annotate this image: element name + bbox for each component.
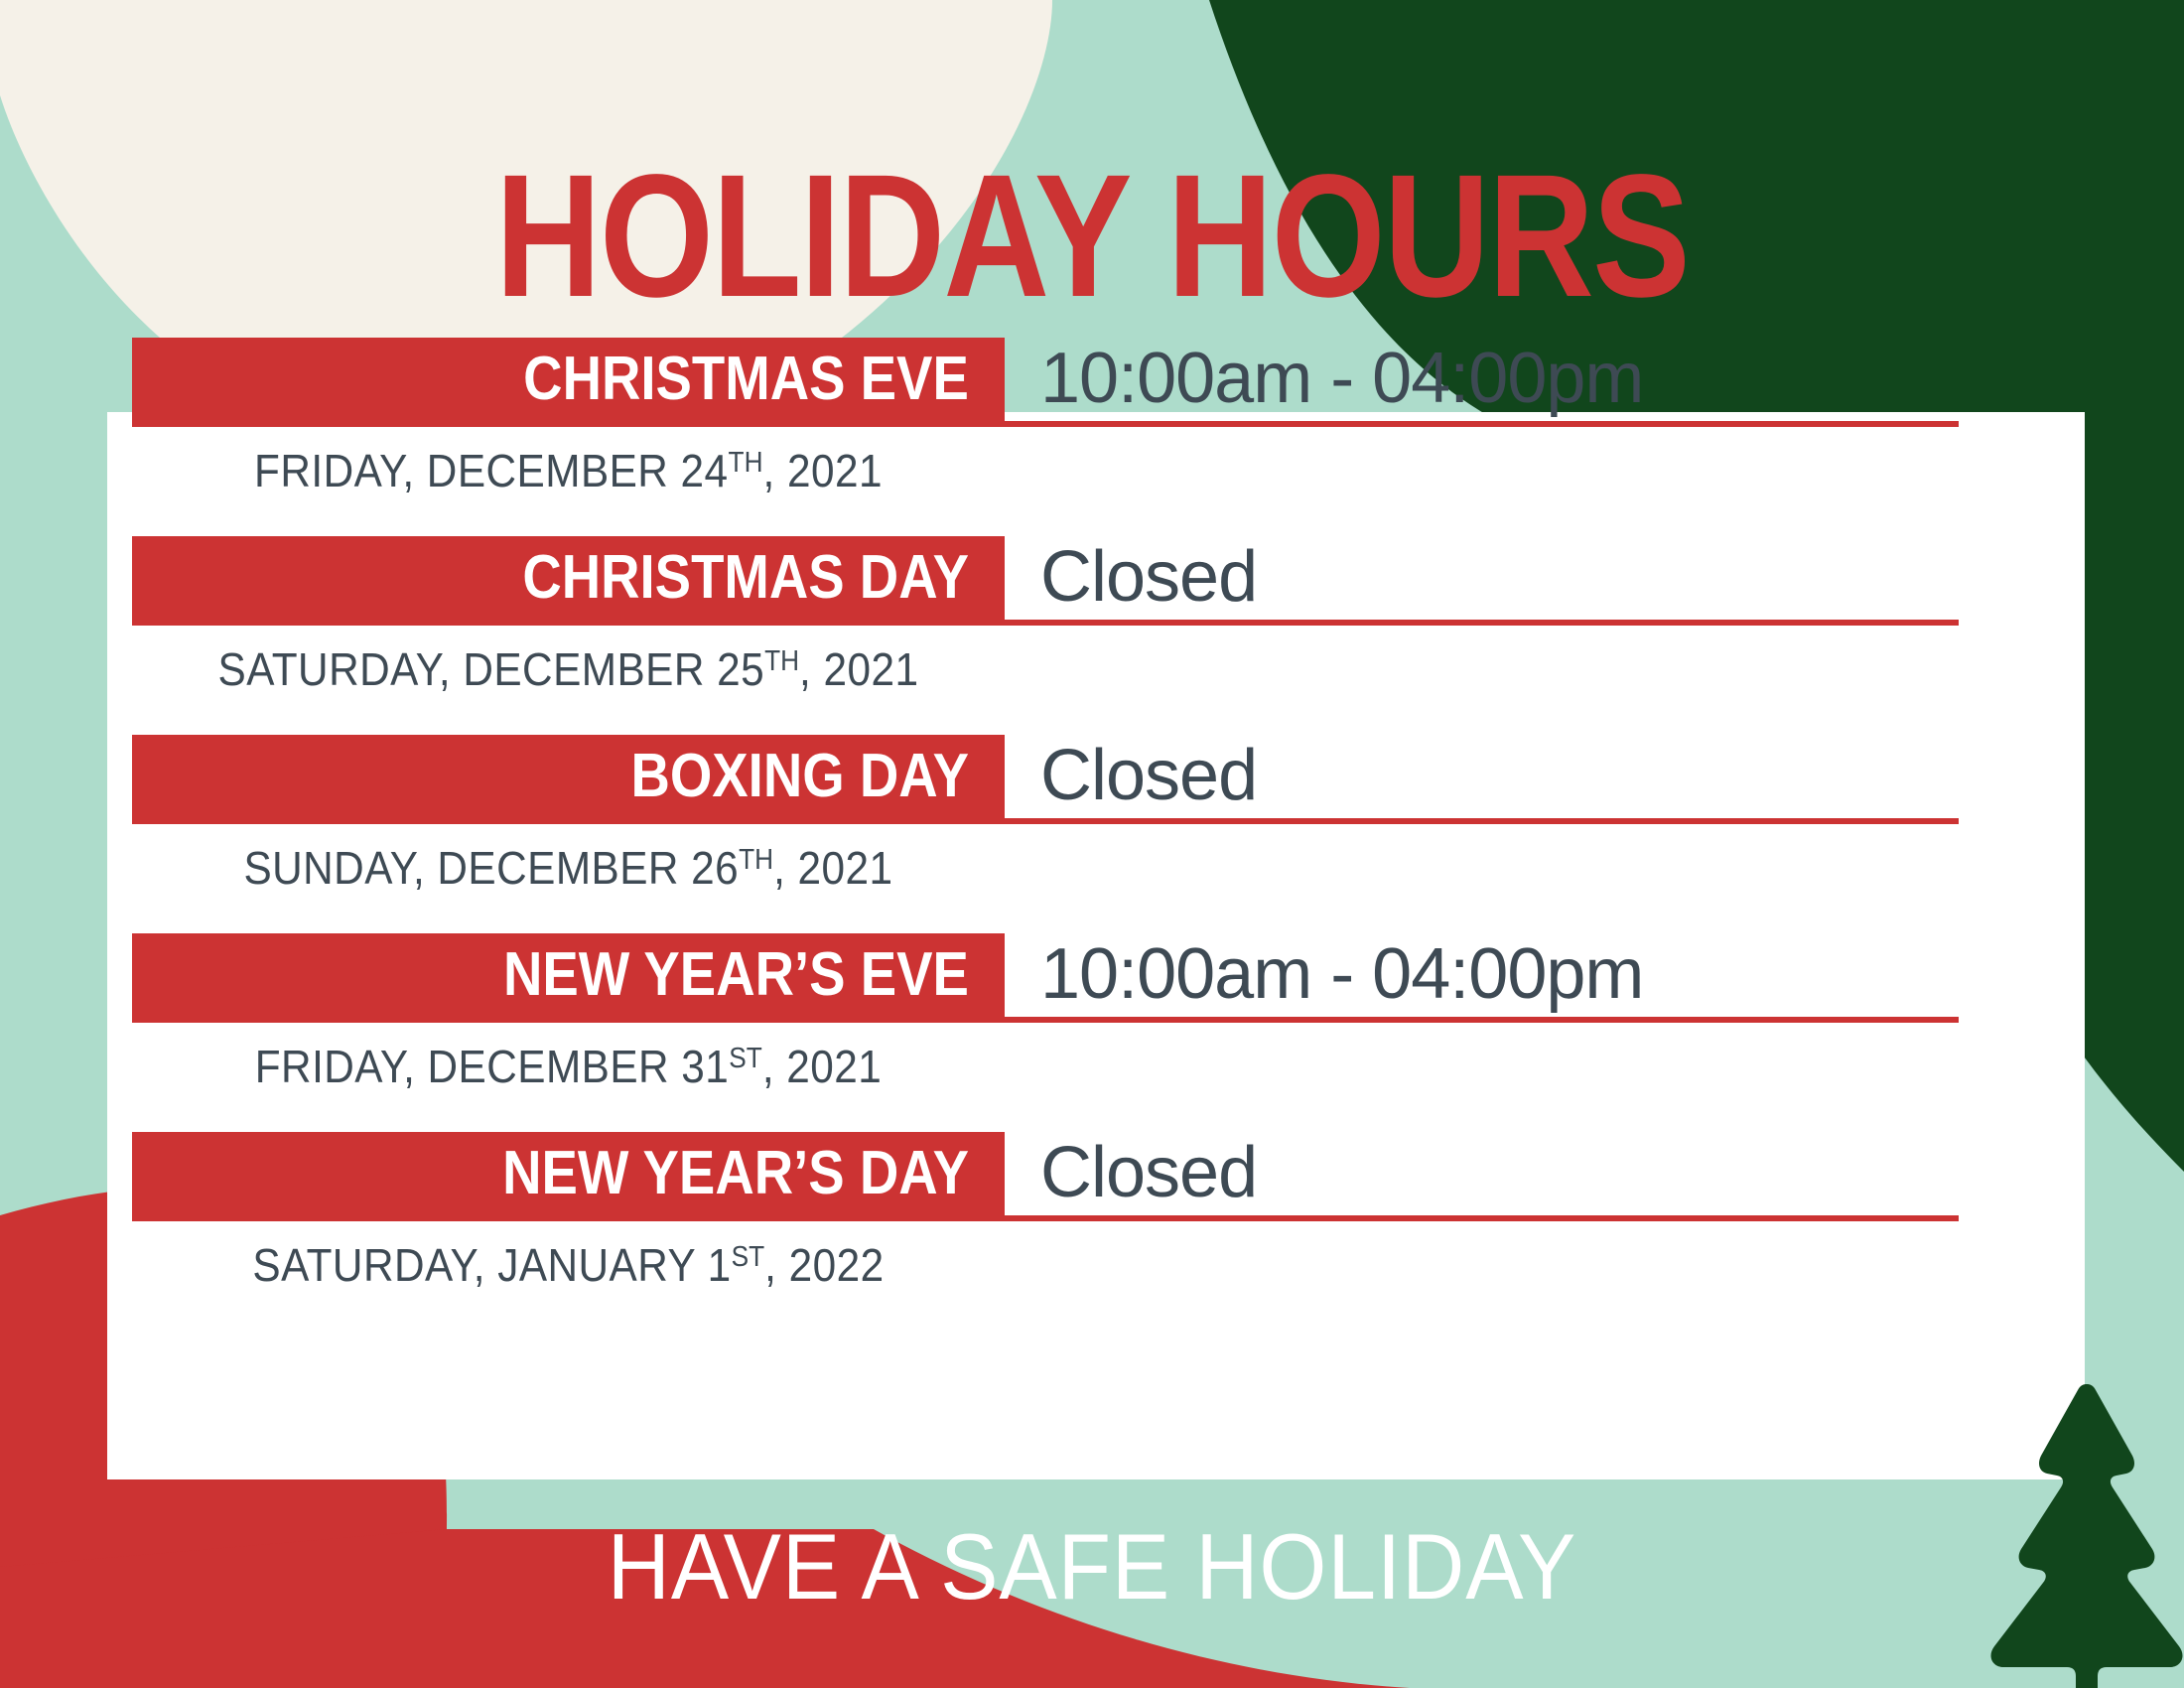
schedule-row: CHRISTMAS DAY Closed SATURDAY, DECEMBER … [107,536,2085,735]
date-ordinal: ST [729,1043,762,1074]
date-prefix: SUNDAY, DECEMBER 26 [243,842,739,894]
date-suffix: , 2021 [763,445,883,496]
poster-canvas: HOLIDAY HOURS CHRISTMAS EVE 10:00am - 04… [0,0,2184,1688]
holiday-name: CHRISTMAS EVE [523,349,969,410]
row-divider-rule [132,1017,1959,1023]
row-divider-rule [132,1215,1959,1221]
holiday-hours: Closed [1040,534,1974,620]
row-divider-rule [132,620,1959,626]
holiday-label-bar: CHRISTMAS EVE [132,338,1005,421]
holiday-date: SATURDAY, JANUARY 1ST, 2022 [167,1227,970,1295]
schedule-card: CHRISTMAS EVE 10:00am - 04:00pm FRIDAY, … [107,412,2085,1479]
holiday-date: SUNDAY, DECEMBER 26TH, 2021 [167,830,970,898]
row-divider-rule [132,421,1959,427]
holiday-date: FRIDAY, DECEMBER 31ST, 2021 [167,1029,970,1096]
date-suffix: , 2021 [773,842,892,894]
holiday-label-bar: BOXING DAY [132,735,1005,818]
schedule-row: NEW YEAR’S EVE 10:00am - 04:00pm FRIDAY,… [107,933,2085,1132]
date-prefix: SATURDAY, JANUARY 1 [252,1239,731,1291]
tagline: HAVE A SAFE HOLIDAY [76,1517,2108,1617]
date-suffix: , 2022 [764,1239,884,1291]
row-divider-rule [132,818,1959,824]
holiday-label-bar: CHRISTMAS DAY [132,536,1005,620]
schedule-row: CHRISTMAS EVE 10:00am - 04:00pm FRIDAY, … [107,338,2085,536]
holiday-hours: Closed [1040,1130,1974,1215]
holiday-name: CHRISTMAS DAY [522,547,969,609]
holiday-hours: 10:00am - 04:00pm [1040,931,1974,1017]
holiday-name: NEW YEAR’S DAY [502,1143,969,1204]
date-suffix: , 2021 [799,643,918,695]
date-suffix: , 2021 [762,1041,882,1092]
date-ordinal: ST [732,1241,765,1273]
holiday-label-bar: NEW YEAR’S DAY [132,1132,1005,1215]
date-ordinal: TH [739,844,773,876]
schedule-row: BOXING DAY Closed SUNDAY, DECEMBER 26TH,… [107,735,2085,933]
holiday-label-bar: NEW YEAR’S EVE [132,933,1005,1017]
holiday-name: NEW YEAR’S EVE [503,944,969,1006]
holiday-date: SATURDAY, DECEMBER 25TH, 2021 [167,632,970,699]
date-ordinal: TH [729,447,763,479]
page-title: HOLIDAY HOURS [175,149,2009,324]
date-prefix: SATURDAY, DECEMBER 25 [218,643,765,695]
holiday-name: BOXING DAY [630,746,969,807]
schedule-row: NEW YEAR’S DAY Closed SATURDAY, JANUARY … [107,1132,2085,1331]
holiday-date: FRIDAY, DECEMBER 24TH, 2021 [167,433,970,500]
date-prefix: FRIDAY, DECEMBER 31 [255,1041,730,1092]
date-prefix: FRIDAY, DECEMBER 24 [254,445,729,496]
holiday-hours: Closed [1040,733,1974,818]
holiday-hours: 10:00am - 04:00pm [1040,336,1974,421]
date-ordinal: TH [764,645,799,677]
